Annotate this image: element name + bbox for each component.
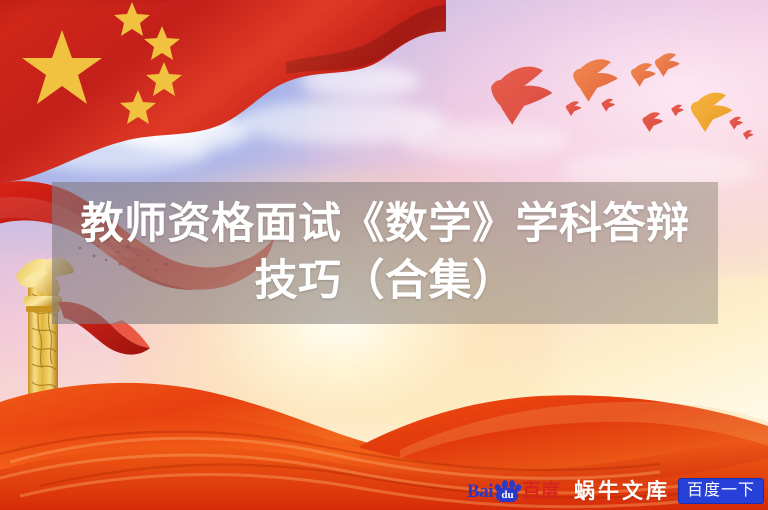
cover-image: 教师资格面试《数学》学科答辩 技巧（合集） Bai du 百度 蜗牛文库 百度一… [0,0,768,510]
chinese-flag [0,0,446,184]
paw-icon: du [494,480,520,502]
page-title-line-1: 教师资格面试《数学》学科答辩 [81,196,690,253]
paw-label: du [498,488,517,502]
baidu-chinese-text: 百度 [522,482,560,501]
baidu-search-button[interactable]: 百度一下 [678,478,764,505]
flying-doves-group [480,46,768,166]
page-title-line-2: 技巧（合集） [255,253,516,310]
baidu-logo[interactable]: Bai du 百度 [467,478,560,504]
site-name-watermark: 蜗牛文库 [574,481,670,502]
baidu-latin-text: Bai [467,482,493,501]
title-text-block: 教师资格面试《数学》学科答辩 技巧（合集） [52,182,718,324]
watermark-bar: Bai du 百度 蜗牛文库 百度一下 [467,474,768,508]
